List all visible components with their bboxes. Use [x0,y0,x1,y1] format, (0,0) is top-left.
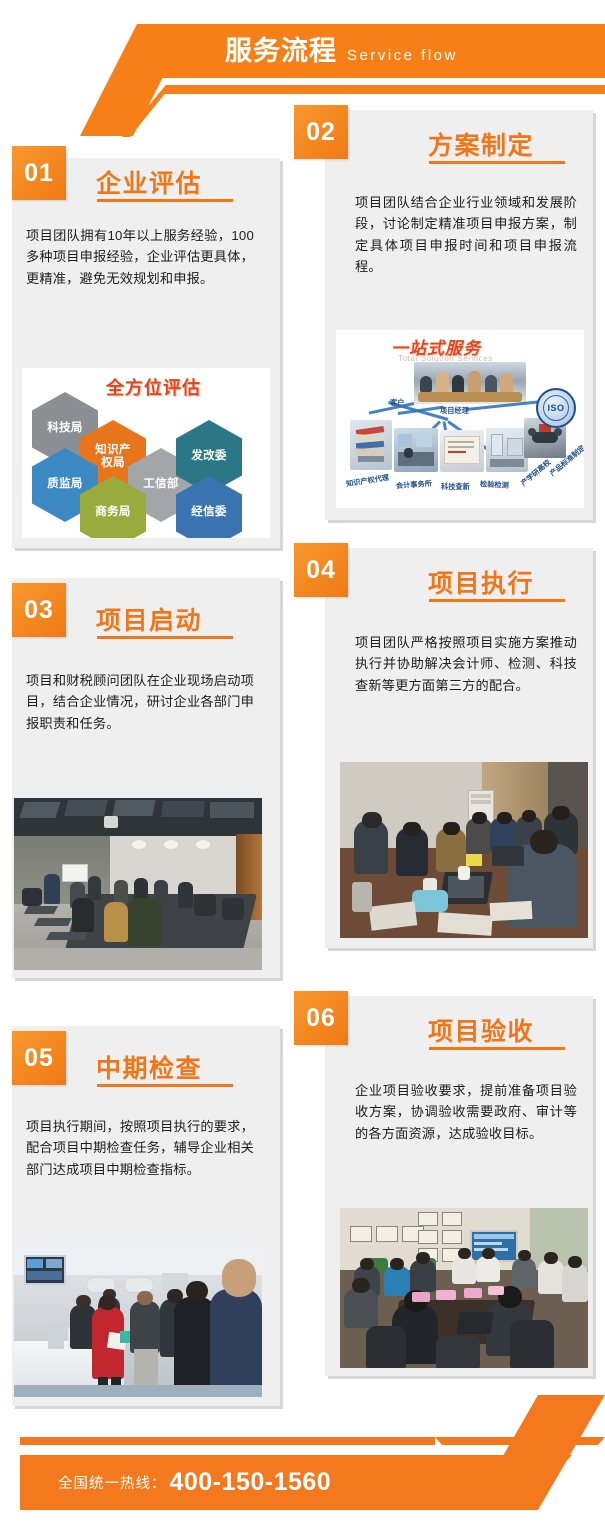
hexagon-label: 质监局 [47,478,82,491]
step-photo-06 [340,1208,588,1368]
footer-accent-line-tail [435,1437,605,1445]
hexagon-figure-title: 全方位评估 [106,374,201,400]
step-number-01: 01 [24,159,54,188]
step-body-02: 项目团队结合企业行业领域和发展阶段，讨论制定精准项目申报方案，制定具体项目申报时… [355,192,577,278]
step-title-03: 项目启动 [96,601,202,637]
service-node-standards-seal: ISO [536,388,576,428]
header-accent-line [158,85,605,94]
conference-room-meeting-scene [14,798,262,970]
service-node-inspection-testing [486,428,528,472]
step-number-badge-06: 06 [294,991,348,1045]
step-number-badge-03: 03 [12,583,66,637]
step-number-02: 02 [306,118,336,147]
page-subtitle: Service flow [347,33,458,79]
hexagon-label: 经信委 [191,506,226,519]
step-title-04: 项目执行 [428,564,534,600]
step-title-06: 项目验收 [428,1012,534,1048]
seal-text: ISO [543,395,569,421]
step-title-01: 企业评估 [96,164,202,200]
footer-hotline-number[interactable]: 400-150-1560 [170,1468,332,1497]
step-title-02: 方案制定 [428,126,534,162]
page-title: 服务流程 [225,28,337,74]
hexagon-label: 发改委 [191,450,226,463]
showroom-group-discussion-scene [14,1245,262,1397]
service-label-customer: 客户 [390,398,404,408]
step-number-badge-01: 01 [12,146,66,200]
hexagon-label: 商务局 [95,506,130,519]
service-bottom-label: 会计事务所 [396,479,433,491]
step-body-03: 项目和财税顾问团队在企业现场启动项目，结合企业情况，研讨企业各部门申报职责和任务… [26,670,254,734]
step-title-rule-01 [97,199,233,202]
service-flow-infographic: 服务流程 Service flow 01 企业评估 项目团队拥有10年以上服务经… [0,0,605,1538]
footer-accent-line [20,1437,435,1445]
one-stop-service-figure: 一站式服务 Total Solution Services 客户 项目经理 [336,330,584,508]
step-body-04: 项目团队严格按照项目实施方案推动执行并协助解决会计师、检测、科技查新等更方面第三… [355,632,577,696]
step-title-rule-03 [97,636,233,639]
step-number-04: 04 [306,556,336,585]
page-header: 服务流程 Service flow [0,0,605,118]
step-photo-04 [340,762,588,938]
service-label-project-manager: 项目经理 [440,406,469,416]
step-title-rule-06 [429,1047,565,1050]
service-node-accounting [394,428,438,472]
step-title-rule-04 [429,599,565,602]
service-node-ip-agency [350,420,392,470]
step-photo-05 [14,1245,262,1397]
footer-hotline-label: 全国统一热线： [58,1472,167,1493]
boardroom-presentation-scene [340,1208,588,1368]
step-number-badge-05: 05 [12,1031,66,1085]
step-title-05: 中期检查 [96,1049,202,1085]
step-body-05: 项目执行期间，按照项目执行的要求，配合项目中期检查任务，辅导企业相关部门达成项目… [26,1116,254,1180]
service-bottom-label: 知识产权代理 [345,473,389,490]
hexagon-label: 工信部 [143,478,178,491]
step-number-badge-04: 04 [294,543,348,597]
step-body-01: 项目团队拥有10年以上服务经验，100多种项目申报经验，企业评估更具体，更精准，… [26,225,254,289]
service-node-center-photo [414,362,526,404]
hexagon-label: 科技局 [47,422,82,435]
step-number-06: 06 [306,1004,336,1033]
step-number-badge-02: 02 [294,105,348,159]
step-title-rule-05 [97,1084,233,1087]
step-title-rule-02 [429,161,565,164]
footer-hotline-group: 全国统一热线： 400-150-1560 [58,1455,331,1510]
service-bottom-label: 检验检测 [480,479,509,490]
service-node-tech-novelty-search [440,430,484,472]
service-bottom-label: 科技查新 [441,482,470,492]
step-photo-03 [14,798,262,970]
header-title-group: 服务流程 Service flow [225,28,458,74]
step-number-03: 03 [24,596,54,625]
office-laptops-working-scene [340,762,588,938]
step-body-06: 企业项目验收要求，提前准备项目验收方案，协调验收需要政府、审计等的各方面资源，达… [355,1080,577,1144]
hexagon-assessment-figure: 全方位评估 科技局 知识产权局 质监局 工信部 商务局 发改委 经信委 [22,368,270,538]
step-number-05: 05 [24,1044,54,1073]
